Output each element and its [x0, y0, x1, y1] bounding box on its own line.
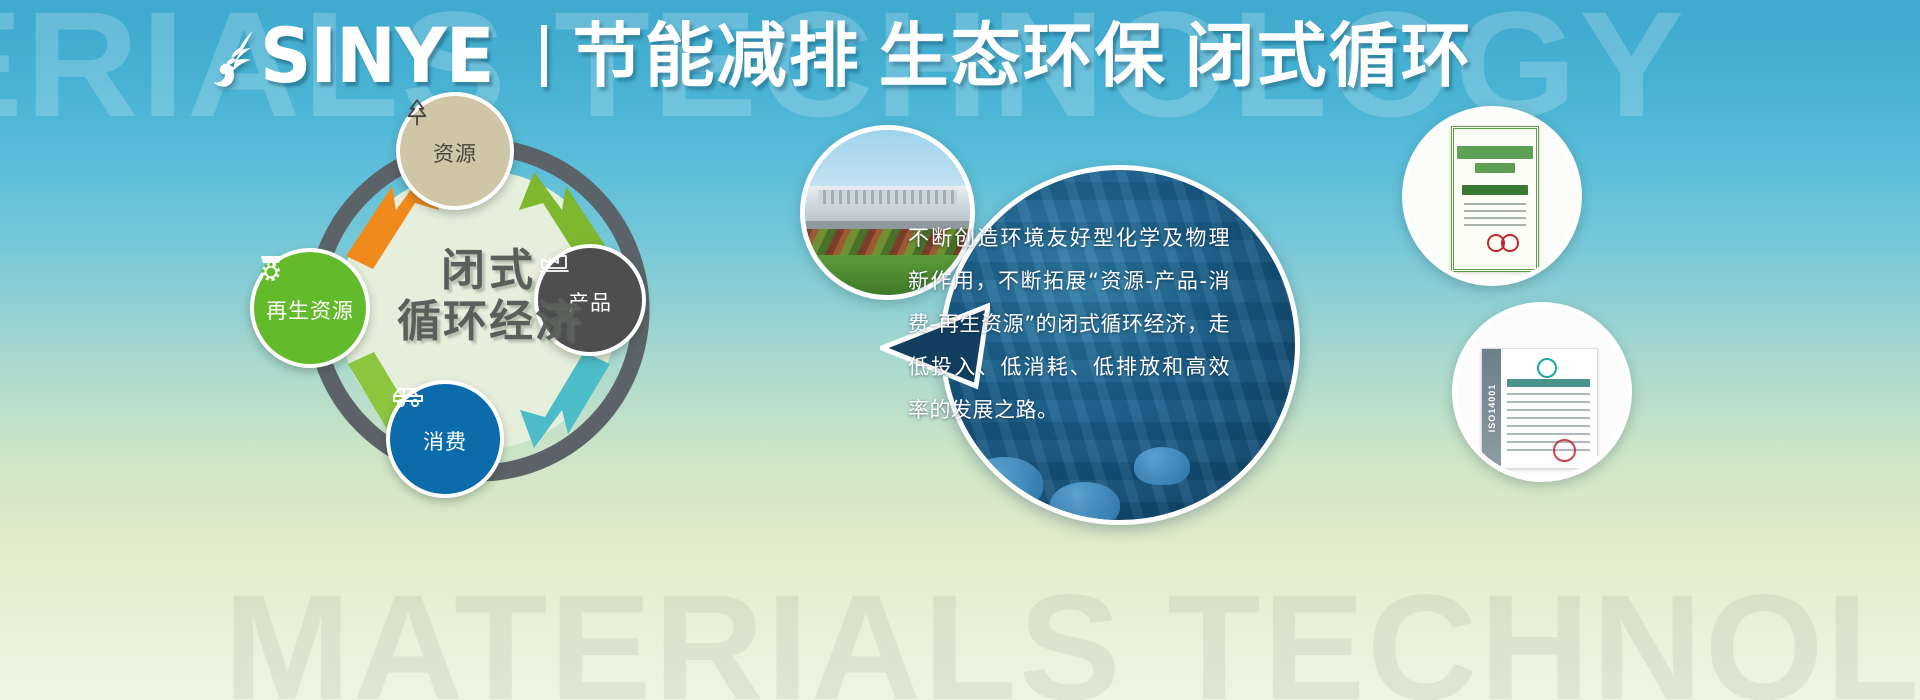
- closed-loop-diagram: 闭式 循环经济 资源 产品: [268, 100, 688, 520]
- iso-certificate-body-text: [1507, 393, 1590, 453]
- iso14001-certificate: ISO14001: [1452, 302, 1632, 482]
- iso-certificate-spine: ISO14001: [1482, 349, 1502, 468]
- certificate-paper: [1451, 126, 1539, 271]
- iso-certificate-paper: ISO14001: [1481, 348, 1599, 469]
- recycle-bin-icon: [254, 252, 288, 284]
- headline: 节能减排生态环保闭式循环: [573, 21, 1473, 91]
- statement-bubble-wrapper: 不断创造环境友好型化学及物理新作用，不断拓展“资源-产品-消费-再生资源”的闭式…: [880, 165, 1300, 585]
- header-divider: [541, 25, 547, 87]
- car-icon: [390, 384, 426, 412]
- worker-helmet-2: [1050, 482, 1120, 526]
- diagram-center-caption: 闭式 循环经济: [374, 248, 604, 345]
- iso-spine-label: ISO14001: [1487, 384, 1497, 433]
- statement-text: 不断创造环境友好型化学及物理新作用，不断拓展“资源-产品-消费-再生资源”的闭式…: [900, 217, 1238, 432]
- clean-production-certificate: [1402, 106, 1582, 286]
- certificate-company-name: [1462, 185, 1527, 195]
- tree-icon: [400, 96, 434, 130]
- center-line-2: 循环经济: [374, 299, 604, 346]
- logo-wordmark: SINYE: [260, 18, 494, 94]
- iso-certificate-title: [1507, 379, 1590, 387]
- certificate-seal-right: [1501, 234, 1519, 252]
- diagram-node-recycle[interactable]: 再生资源: [250, 248, 370, 368]
- eco-banner: ERIALS TECHNOLOGY MATERIALS TECHNOL SINY…: [0, 0, 1920, 700]
- iso-certificate-stamp: [1553, 439, 1575, 461]
- headline-part-2: 生态环保: [879, 17, 1167, 95]
- center-line-1: 闭式: [374, 248, 604, 295]
- certificate-title-line-2: [1475, 163, 1514, 173]
- certificate-title-line-1: [1457, 146, 1532, 159]
- diagram-node-resource[interactable]: 资源: [396, 92, 514, 210]
- node-label-resource: 资源: [433, 138, 477, 168]
- headline-part-1: 节能减排: [573, 17, 861, 95]
- worker-helmet-3: [1134, 447, 1190, 486]
- iso-accreditation-logo-icon: [1537, 358, 1557, 378]
- banner-header: SINYE 节能减排生态环保闭式循环: [210, 16, 1473, 96]
- diagram-node-consume[interactable]: 消费: [386, 380, 504, 498]
- node-label-consume: 消费: [423, 426, 467, 456]
- worker-helmet-1: [966, 457, 1043, 510]
- headline-part-3: 闭式循环: [1185, 17, 1473, 95]
- node-label-recycle: 再生资源: [266, 295, 354, 325]
- certificate-body-text: [1464, 203, 1526, 228]
